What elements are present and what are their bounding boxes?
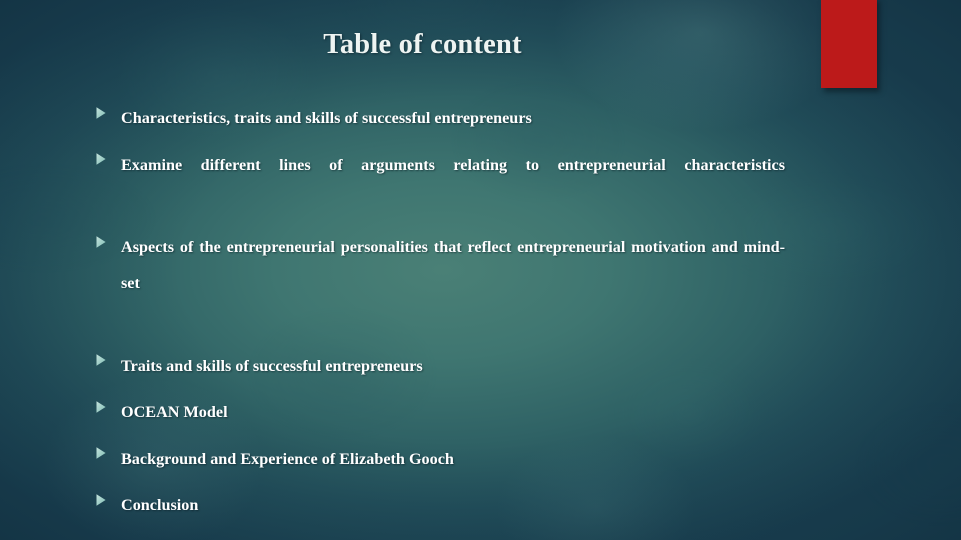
- list-item[interactable]: Characteristics, traits and skills of su…: [95, 100, 785, 136]
- page-title: Table of content: [0, 29, 845, 61]
- list-item-label: Background and Experience of Elizabeth G…: [121, 441, 785, 477]
- list-item-label: Conclusion: [121, 487, 785, 523]
- list-item-label: References: [121, 534, 785, 540]
- presentation-slide: Table of content Characteristics, traits…: [0, 0, 961, 540]
- triangle-right-bullet-icon: [95, 353, 107, 367]
- list-item-label: Traits and skills of successful entrepre…: [121, 348, 785, 384]
- list-item[interactable]: Conclusion: [95, 487, 785, 523]
- list-item-label: Aspects of the entrepreneurial personali…: [121, 229, 785, 337]
- list-item-label: Characteristics, traits and skills of su…: [121, 100, 785, 136]
- list-item[interactable]: Traits and skills of successful entrepre…: [95, 348, 785, 384]
- list-item-label: OCEAN Model: [121, 394, 785, 430]
- triangle-right-bullet-icon: [95, 446, 107, 460]
- list-item[interactable]: Aspects of the entrepreneurial personali…: [95, 229, 785, 337]
- triangle-right-bullet-icon: [95, 400, 107, 414]
- list-item[interactable]: References: [95, 534, 785, 540]
- list-item[interactable]: Examine different lines of arguments rel…: [95, 147, 785, 219]
- list-item-label: Examine different lines of arguments rel…: [121, 147, 785, 219]
- triangle-right-bullet-icon: [95, 152, 107, 166]
- triangle-right-bullet-icon: [95, 106, 107, 120]
- triangle-right-bullet-icon: [95, 493, 107, 507]
- list-item[interactable]: Background and Experience of Elizabeth G…: [95, 441, 785, 477]
- table-of-contents-list: Characteristics, traits and skills of su…: [95, 100, 785, 540]
- list-item[interactable]: OCEAN Model: [95, 394, 785, 430]
- triangle-right-bullet-icon: [95, 235, 107, 249]
